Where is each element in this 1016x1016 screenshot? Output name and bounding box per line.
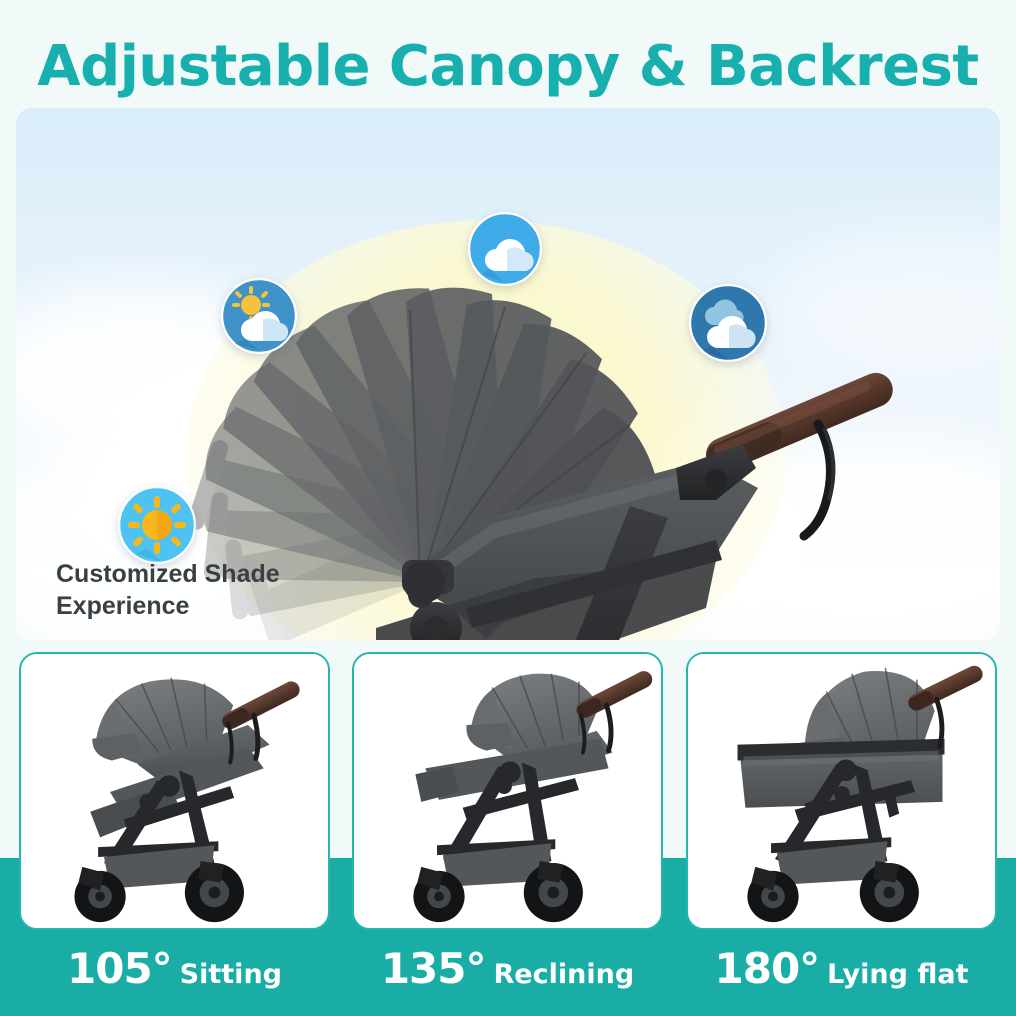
- sun-behind-cloud-icon: [221, 278, 297, 354]
- card-sitting[interactable]: [19, 652, 330, 930]
- hero-caption-line1: Customized Shade: [56, 558, 356, 590]
- degree-value-lying-flat: 180°: [715, 944, 820, 993]
- label-lying-flat: 180°Lying flat: [686, 944, 997, 993]
- stroller-lying-flat-image: [688, 654, 995, 928]
- sun-icon: [118, 486, 196, 564]
- degree-word-sitting: Sitting: [180, 959, 282, 990]
- cloud-icon: [468, 212, 542, 286]
- label-reclining: 135°Reclining: [352, 944, 663, 993]
- degree-value-reclining: 135°: [381, 944, 486, 993]
- degree-word-lying-flat: Lying flat: [827, 959, 968, 990]
- overcast-clouds-icon: [689, 284, 767, 362]
- card-lying-flat[interactable]: [686, 652, 997, 930]
- hero-panel: Customized Shade Experience: [16, 108, 1000, 640]
- card-reclining[interactable]: [352, 652, 663, 930]
- degree-value-sitting: 105°: [67, 944, 172, 993]
- hero-caption-line2: Experience: [56, 590, 356, 622]
- page-title: Adjustable Canopy & Backrest: [0, 34, 1016, 99]
- stroller-sitting-image: [21, 654, 328, 928]
- stroller-reclining-image: [354, 654, 661, 928]
- label-sitting: 105°Sitting: [19, 944, 330, 993]
- hero-caption: Customized Shade Experience: [56, 558, 356, 622]
- degree-word-reclining: Reclining: [494, 959, 635, 990]
